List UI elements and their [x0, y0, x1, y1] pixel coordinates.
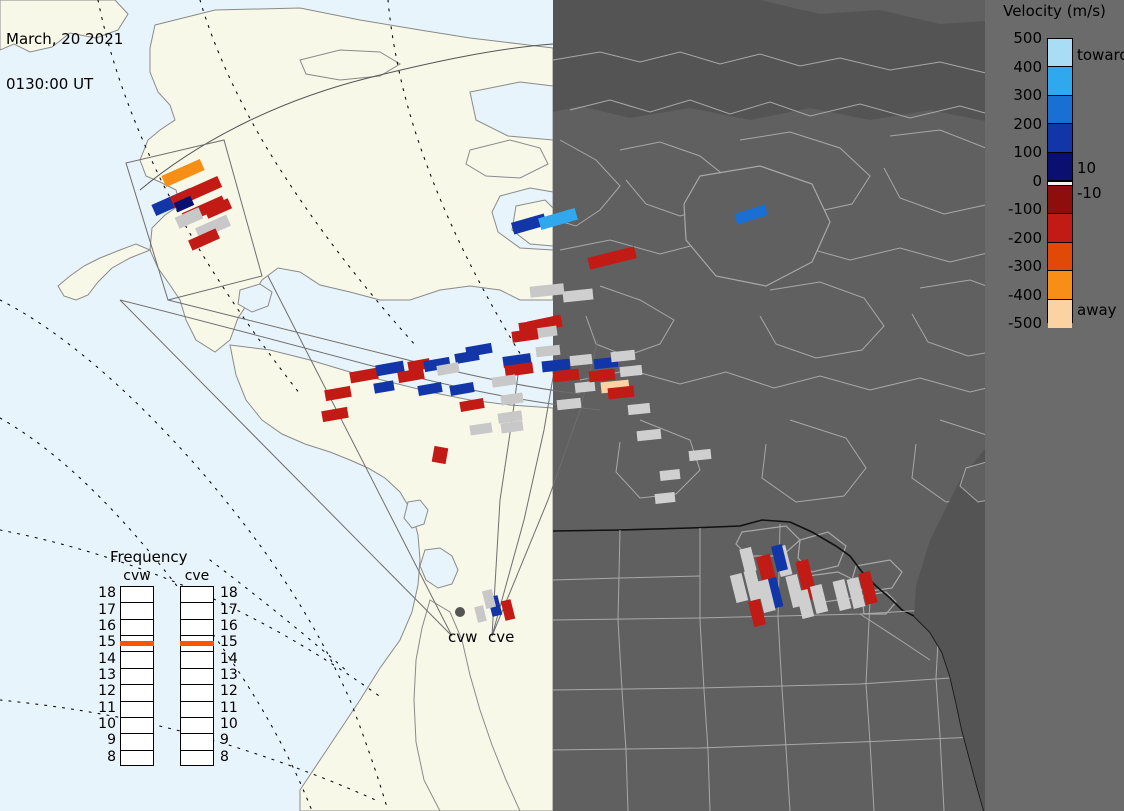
map-canvas — [0, 0, 1124, 811]
frequency-tick-17: 17 — [94, 604, 116, 617]
frequency-tick-9: 9 — [220, 734, 242, 747]
frequency-segment — [181, 685, 213, 701]
frequency-segment — [181, 652, 213, 668]
frequency-tick-16: 16 — [220, 620, 242, 633]
frequency-column-cve-label: cve — [180, 568, 214, 584]
frequency-tick-18: 18 — [94, 587, 116, 600]
frequency-tick-17: 17 — [220, 604, 242, 617]
colorbar-swatch-2 — [1048, 96, 1072, 124]
title-time: 0130:00 UT — [6, 77, 123, 92]
timestamp-block: March, 20 2021 0130:00 UT — [6, 2, 123, 122]
frequency-segment — [121, 603, 153, 619]
frequency-column-cvw-label: cvw — [120, 568, 154, 584]
colorbar-tick--500: -500 — [982, 316, 1042, 330]
title-date: March, 20 2021 — [6, 32, 123, 47]
velocity-colorbar-panel: Velocity (m/s) 5004003002001000-100-200-… — [985, 0, 1124, 811]
colorbar-tick-0: 0 — [982, 174, 1042, 188]
frequency-bar-cve — [180, 586, 214, 766]
frequency-segment — [121, 587, 153, 603]
frequency-tick-12: 12 — [220, 685, 242, 698]
frequency-segment — [121, 718, 153, 734]
colorbar-gradient — [1047, 38, 1073, 323]
velocity-cell — [655, 492, 676, 504]
frequency-segment — [181, 587, 213, 603]
frequency-segment — [181, 620, 213, 636]
colorbar-swatch-4 — [1048, 153, 1072, 181]
frequency-segment — [121, 751, 153, 767]
colorbar-swatch-7 — [1048, 214, 1072, 242]
frequency-legend-title: Frequency — [110, 548, 188, 566]
frequency-segment — [121, 669, 153, 685]
frequency-tick-14: 14 — [220, 653, 242, 666]
colorbar-tick-300: 300 — [982, 88, 1042, 102]
frequency-tick-8: 8 — [220, 751, 242, 764]
frequency-segment — [121, 652, 153, 668]
frequency-segment — [181, 669, 213, 685]
colorbar-label-negative-threshold: -10 — [1077, 186, 1102, 200]
colorbar-tick--400: -400 — [982, 288, 1042, 302]
frequency-tick-13: 13 — [220, 669, 242, 682]
frequency-tick-8: 8 — [94, 751, 116, 764]
frequency-tick-15: 15 — [220, 636, 242, 649]
colorbar-label-toward: toward — [1077, 48, 1124, 62]
frequency-tick-16: 16 — [94, 620, 116, 633]
frequency-segment — [121, 734, 153, 750]
colorbar-tick-100: 100 — [982, 145, 1042, 159]
colorbar-swatch-1 — [1048, 67, 1072, 95]
colorbar-tick--100: -100 — [982, 202, 1042, 216]
colorbar-tick-500: 500 — [982, 31, 1042, 45]
colorbar-label-away: away — [1077, 303, 1117, 317]
frequency-segment — [121, 702, 153, 718]
frequency-marker-cve — [180, 641, 214, 646]
radar-map-screenshot: March, 20 2021 0130:00 UT cvw cve Freque… — [0, 0, 1124, 811]
radar-site-dot — [455, 607, 465, 617]
frequency-segment — [121, 685, 153, 701]
frequency-tick-12: 12 — [94, 685, 116, 698]
frequency-segment — [181, 751, 213, 767]
colorbar-tick-400: 400 — [982, 60, 1042, 74]
frequency-tick-10: 10 — [220, 718, 242, 731]
colorbar-title: Velocity (m/s) — [985, 2, 1124, 20]
frequency-tick-11: 11 — [220, 702, 242, 715]
frequency-marker-cvw — [120, 641, 154, 646]
colorbar-label-positive-threshold: 10 — [1077, 161, 1096, 175]
frequency-segment — [121, 620, 153, 636]
frequency-tick-13: 13 — [94, 669, 116, 682]
colorbar-tick--200: -200 — [982, 231, 1042, 245]
frequency-tick-15: 15 — [94, 636, 116, 649]
frequency-tick-18: 18 — [220, 587, 242, 600]
frequency-segment — [181, 603, 213, 619]
frequency-tick-11: 11 — [94, 702, 116, 715]
colorbar-swatch-10 — [1048, 300, 1072, 328]
velocity-cell — [575, 381, 596, 393]
colorbar-swatch-9 — [1048, 271, 1072, 299]
frequency-segment — [181, 702, 213, 718]
frequency-segment — [181, 734, 213, 750]
frequency-bar-cvw — [120, 586, 154, 766]
colorbar-swatch-3 — [1048, 124, 1072, 152]
colorbar-swatch-0 — [1048, 39, 1072, 67]
colorbar-swatch-8 — [1048, 243, 1072, 271]
site-label-cve: cve — [488, 628, 514, 646]
frequency-tick-14: 14 — [94, 653, 116, 666]
colorbar-tick--300: -300 — [982, 259, 1042, 273]
colorbar-swatch-6 — [1048, 186, 1072, 214]
frequency-tick-10: 10 — [94, 718, 116, 731]
colorbar-tick-200: 200 — [982, 117, 1042, 131]
site-label-cvw: cvw — [448, 628, 477, 646]
frequency-segment — [181, 718, 213, 734]
velocity-cell — [432, 446, 449, 464]
frequency-tick-9: 9 — [94, 734, 116, 747]
velocity-cell — [660, 469, 681, 481]
